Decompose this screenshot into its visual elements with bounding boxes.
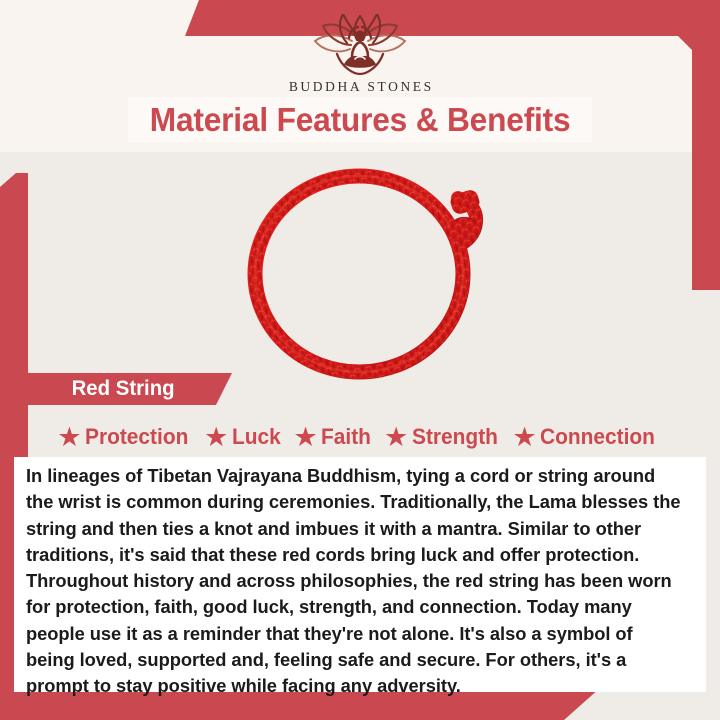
headline-banner: Material Features & Benefits (128, 97, 592, 142)
star-icon (59, 427, 80, 448)
description-text: In lineages of Tibetan Vajrayana Buddhis… (26, 463, 682, 700)
page-title: Material Features & Benefits (150, 101, 571, 139)
star-icon (514, 427, 535, 448)
product-name-ribbon: Red String (14, 373, 232, 405)
benefit-label: Strength (412, 424, 498, 450)
benefit-item-connection: Connection (514, 424, 661, 450)
benefits-row: Protection Luck Faith Strength Connectio… (28, 421, 692, 453)
description-panel: In lineages of Tibetan Vajrayana Buddhis… (14, 457, 706, 692)
brand-name: BUDDHA STONES (0, 79, 720, 95)
benefit-label: Connection (540, 424, 655, 450)
benefit-item-protection: Protection (59, 424, 194, 450)
star-icon (295, 427, 316, 448)
benefit-item-luck: Luck (206, 424, 283, 450)
product-name-label: Red String (72, 377, 175, 401)
benefit-label: Protection (85, 424, 188, 450)
product-photo (215, 150, 515, 390)
brand-logo: BUDDHA STONES (0, 14, 720, 95)
benefit-item-strength: Strength (386, 424, 502, 450)
benefit-label: Faith (321, 424, 371, 450)
benefit-item-faith: Faith (295, 424, 374, 450)
lotus-meditation-icon (0, 14, 720, 76)
benefit-label: Luck (232, 424, 281, 450)
star-icon (206, 427, 227, 448)
star-icon (386, 427, 407, 448)
poster-canvas: BUDDHA STONES Material Features & Benefi… (0, 0, 720, 720)
